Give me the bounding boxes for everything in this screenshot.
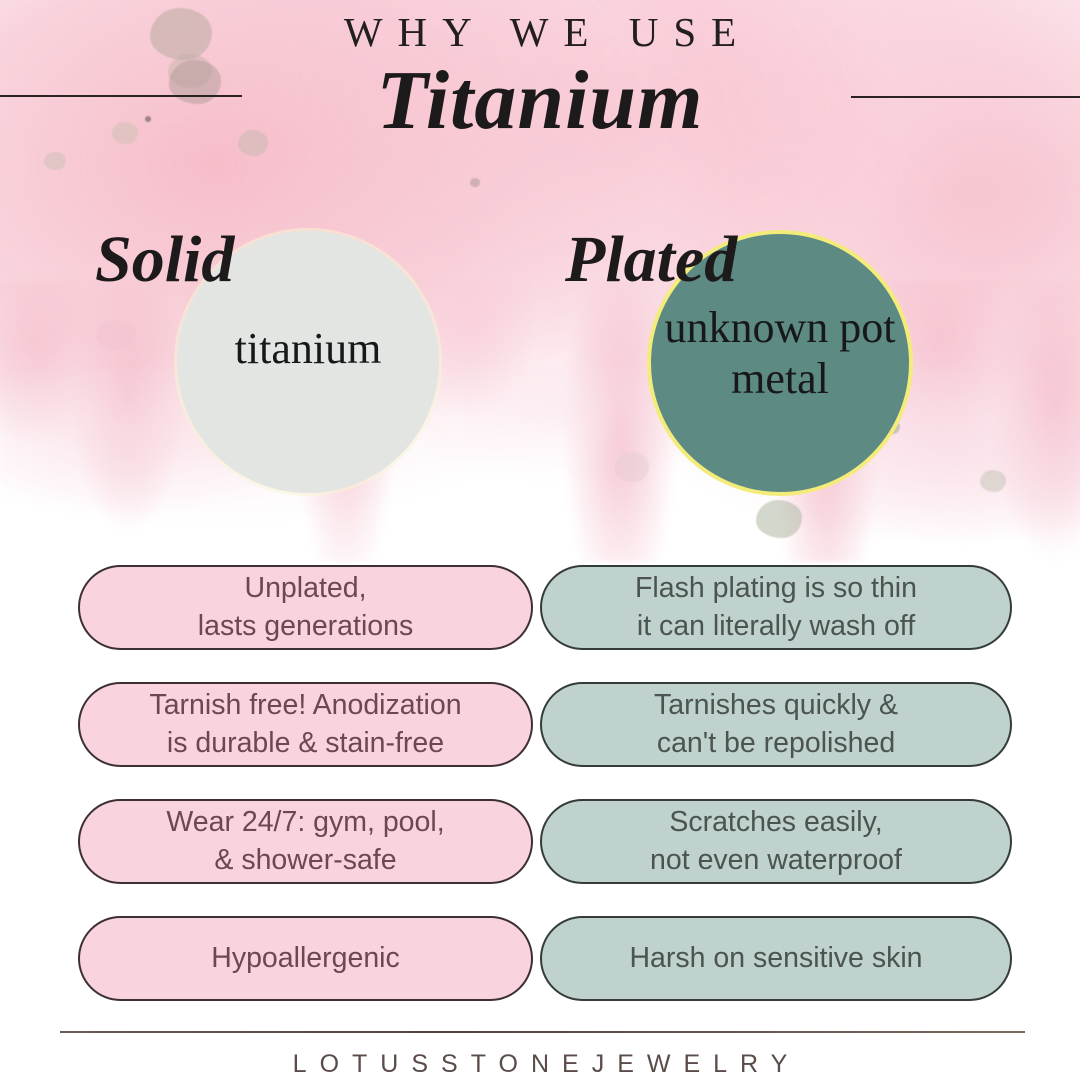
plated-pill: Tarnishes quickly & can't be repolished [540, 682, 1012, 767]
solid-pill: Wear 24/7: gym, pool, & shower-safe [78, 799, 533, 884]
header-kicker: WHY WE USE [0, 8, 1080, 56]
column-heading-plated: Plated [565, 222, 737, 298]
plated-pill: Scratches easily, not even waterproof [540, 799, 1012, 884]
comparison-list: Unplated, lasts generations Flash platin… [0, 565, 1080, 1033]
page-title: Titanium [0, 52, 1080, 149]
solid-pill: Tarnish free! Anodization is durable & s… [78, 682, 533, 767]
solid-badge-label: titanium [177, 323, 439, 374]
comparison-row: Hypoallergenic Harsh on sensitive skin [0, 916, 1080, 1001]
infographic-canvas: WHY WE USE Titanium titanium unknown pot… [0, 0, 1080, 1080]
solid-pill: Unplated, lasts generations [78, 565, 533, 650]
watercolor-drip-edge [0, 281, 1080, 562]
column-heading-solid: Solid [95, 222, 234, 298]
splatter-dot [756, 500, 802, 538]
comparison-row: Unplated, lasts generations Flash platin… [0, 565, 1080, 650]
splatter-dot [96, 320, 136, 350]
header-rule-left [0, 95, 242, 97]
plated-badge-label: unknown pot metal [651, 302, 909, 404]
plated-pill: Flash plating is so thin it can literall… [540, 565, 1012, 650]
splatter-dot [44, 152, 66, 170]
comparison-row: Tarnish free! Anodization is durable & s… [0, 682, 1080, 767]
footer-divider [60, 1031, 1025, 1033]
brand-name: LOTUSSTONEJEWELRY [0, 1050, 1080, 1079]
comparison-row: Wear 24/7: gym, pool, & shower-safe Scra… [0, 799, 1080, 884]
solid-pill: Hypoallergenic [78, 916, 533, 1001]
header-rule-right [851, 96, 1080, 98]
splatter-dot [615, 452, 649, 482]
splatter-dot [470, 178, 480, 187]
plated-pill: Harsh on sensitive skin [540, 916, 1012, 1001]
splatter-dot [980, 470, 1006, 492]
